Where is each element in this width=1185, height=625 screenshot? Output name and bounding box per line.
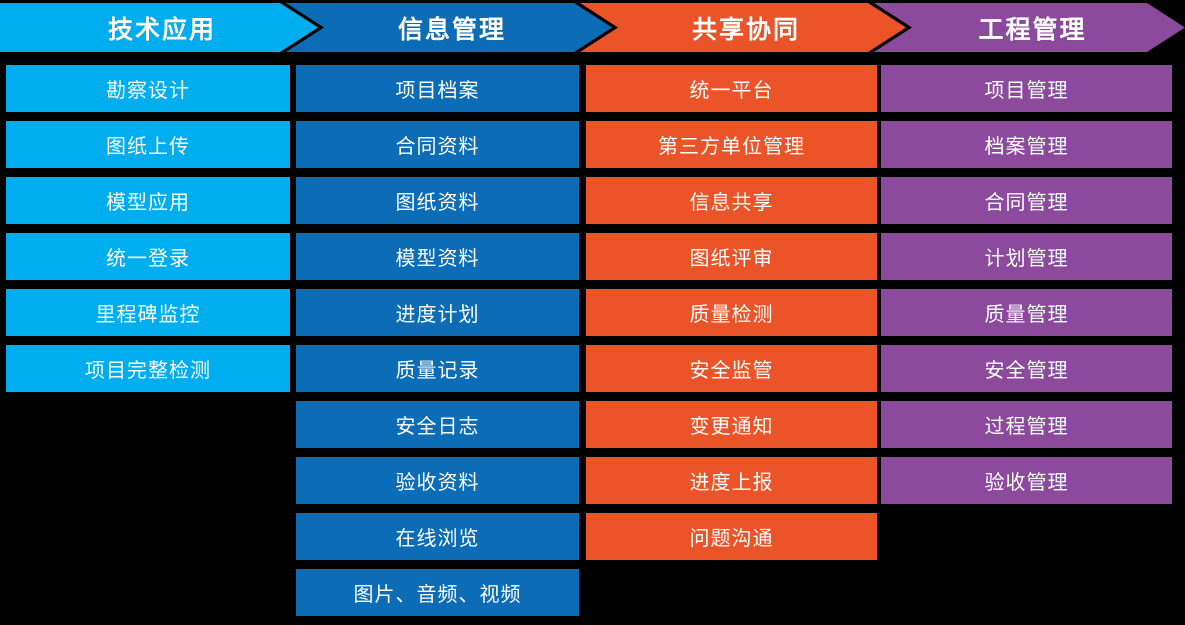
function-cell-label: 信息共享 xyxy=(690,186,774,215)
function-cell-label: 勘察设计 xyxy=(106,74,190,103)
stage-header-information[interactable]: 信息管理 xyxy=(286,3,612,52)
function-cell-label: 安全日志 xyxy=(396,410,480,439)
function-cell[interactable]: 图纸评审 xyxy=(586,233,877,280)
function-cell[interactable]: 档案管理 xyxy=(881,121,1172,168)
function-cell-label: 图纸资料 xyxy=(396,186,480,215)
function-cell[interactable]: 安全监管 xyxy=(586,345,877,392)
stage-column-technology: 勘察设计图纸上传模型应用统一登录里程碑监控项目完整检测 xyxy=(6,65,290,401)
function-cell[interactable]: 图片、音频、视频 xyxy=(296,569,579,616)
stage-header-label: 信息管理 xyxy=(392,10,506,46)
function-cell[interactable]: 第三方单位管理 xyxy=(586,121,877,168)
function-cell[interactable]: 合同管理 xyxy=(881,177,1172,224)
function-cell[interactable]: 验收资料 xyxy=(296,457,579,504)
function-cell[interactable]: 安全管理 xyxy=(881,345,1172,392)
stage-header-label: 工程管理 xyxy=(972,10,1086,46)
function-cell[interactable]: 过程管理 xyxy=(881,401,1172,448)
stage-column-collaboration: 统一平台第三方单位管理信息共享图纸评审质量检测安全监管变更通知进度上报问题沟通 xyxy=(586,65,877,569)
diagram-board: 技术应用 信息管理 共享协同 工程管理 勘察设计图纸上传模型应用统一登录里程碑监… xyxy=(0,0,1185,623)
function-cell[interactable]: 问题沟通 xyxy=(586,513,877,560)
stage-header-technology[interactable]: 技术应用 xyxy=(0,3,318,52)
function-cell[interactable]: 信息共享 xyxy=(586,177,877,224)
function-cell[interactable]: 验收管理 xyxy=(881,457,1172,504)
function-cell[interactable]: 图纸上传 xyxy=(6,121,290,168)
function-cell-label: 项目档案 xyxy=(396,74,480,103)
function-cell-label: 质量管理 xyxy=(985,298,1069,327)
function-cell-label: 图纸上传 xyxy=(106,130,190,159)
function-cell[interactable]: 项目完整检测 xyxy=(6,345,290,392)
function-cell[interactable]: 模型资料 xyxy=(296,233,579,280)
function-cell-label: 计划管理 xyxy=(985,242,1069,271)
function-cell-label: 统一平台 xyxy=(690,74,774,103)
function-cell[interactable]: 项目管理 xyxy=(881,65,1172,112)
function-cell[interactable]: 统一平台 xyxy=(586,65,877,112)
function-cell-label: 模型资料 xyxy=(396,242,480,271)
function-cell-label: 统一登录 xyxy=(106,242,190,271)
function-cell[interactable]: 质量检测 xyxy=(586,289,877,336)
function-cell[interactable]: 项目档案 xyxy=(296,65,579,112)
stage-column-engineering: 项目管理档案管理合同管理计划管理质量管理安全管理过程管理验收管理 xyxy=(881,65,1172,513)
function-cell-label: 安全监管 xyxy=(690,354,774,383)
function-cell-label: 质量记录 xyxy=(396,354,480,383)
function-cell-label: 质量检测 xyxy=(690,298,774,327)
function-cell[interactable]: 模型应用 xyxy=(6,177,290,224)
function-cell-label: 问题沟通 xyxy=(690,522,774,551)
function-cell-label: 合同管理 xyxy=(985,186,1069,215)
stage-header-engineering[interactable]: 工程管理 xyxy=(874,3,1185,52)
function-cell-label: 图片、音频、视频 xyxy=(354,578,522,607)
function-cell-label: 过程管理 xyxy=(985,410,1069,439)
function-cell-label: 进度计划 xyxy=(396,298,480,327)
stage-column-information: 项目档案合同资料图纸资料模型资料进度计划质量记录安全日志验收资料在线浏览图片、音… xyxy=(296,65,579,625)
function-cell-label: 变更通知 xyxy=(690,410,774,439)
stage-header-row: 技术应用 信息管理 共享协同 工程管理 xyxy=(0,0,1185,56)
function-cell[interactable]: 里程碑监控 xyxy=(6,289,290,336)
function-cell[interactable]: 变更通知 xyxy=(586,401,877,448)
function-cell-label: 项目管理 xyxy=(985,74,1069,103)
function-cell-label: 验收资料 xyxy=(396,466,480,495)
function-cell-label: 进度上报 xyxy=(690,466,774,495)
stage-header-collaboration[interactable]: 共享协同 xyxy=(580,3,906,52)
function-cell[interactable]: 统一登录 xyxy=(6,233,290,280)
function-cell[interactable]: 进度上报 xyxy=(586,457,877,504)
function-cell[interactable]: 质量管理 xyxy=(881,289,1172,336)
function-cell[interactable]: 进度计划 xyxy=(296,289,579,336)
function-cell[interactable]: 合同资料 xyxy=(296,121,579,168)
function-cell[interactable]: 在线浏览 xyxy=(296,513,579,560)
function-cell-label: 里程碑监控 xyxy=(96,298,201,327)
function-cell-label: 档案管理 xyxy=(985,130,1069,159)
stage-columns: 勘察设计图纸上传模型应用统一登录里程碑监控项目完整检测 项目档案合同资料图纸资料… xyxy=(0,65,1185,623)
function-cell-label: 模型应用 xyxy=(106,186,190,215)
stage-header-label: 共享协同 xyxy=(686,10,800,46)
function-cell-label: 验收管理 xyxy=(985,466,1069,495)
function-cell[interactable]: 质量记录 xyxy=(296,345,579,392)
function-cell[interactable]: 勘察设计 xyxy=(6,65,290,112)
function-cell-label: 项目完整检测 xyxy=(85,354,211,383)
function-cell[interactable]: 图纸资料 xyxy=(296,177,579,224)
function-cell-label: 在线浏览 xyxy=(396,522,480,551)
function-cell-label: 图纸评审 xyxy=(690,242,774,271)
function-cell-label: 合同资料 xyxy=(396,130,480,159)
function-cell-label: 安全管理 xyxy=(985,354,1069,383)
function-cell[interactable]: 安全日志 xyxy=(296,401,579,448)
function-cell-label: 第三方单位管理 xyxy=(658,130,805,159)
function-cell[interactable]: 计划管理 xyxy=(881,233,1172,280)
stage-header-label: 技术应用 xyxy=(102,10,216,46)
